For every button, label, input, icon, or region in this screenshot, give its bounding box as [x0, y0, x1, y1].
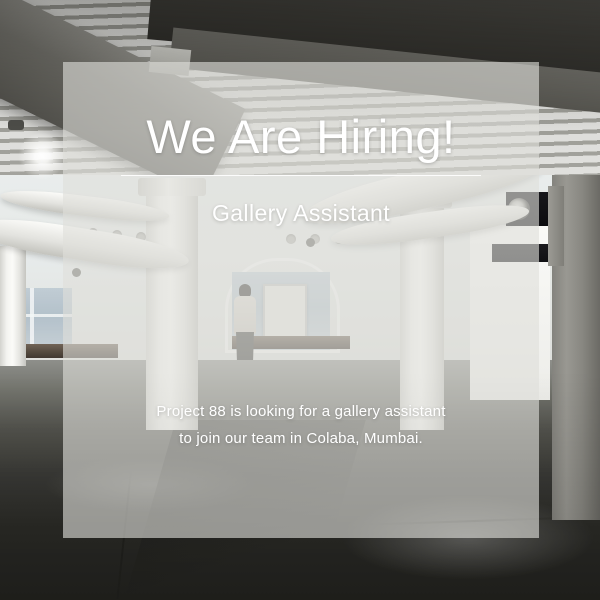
job-role-subtitle: Gallery Assistant — [212, 176, 390, 227]
page-title: We Are Hiring! — [146, 62, 455, 161]
text-overlay-panel: We Are Hiring! Gallery Assistant Project… — [63, 62, 539, 538]
job-description-text: Project 88 is looking for a gallery assi… — [151, 227, 451, 452]
hiring-poster: We Are Hiring! Gallery Assistant Project… — [0, 0, 600, 600]
